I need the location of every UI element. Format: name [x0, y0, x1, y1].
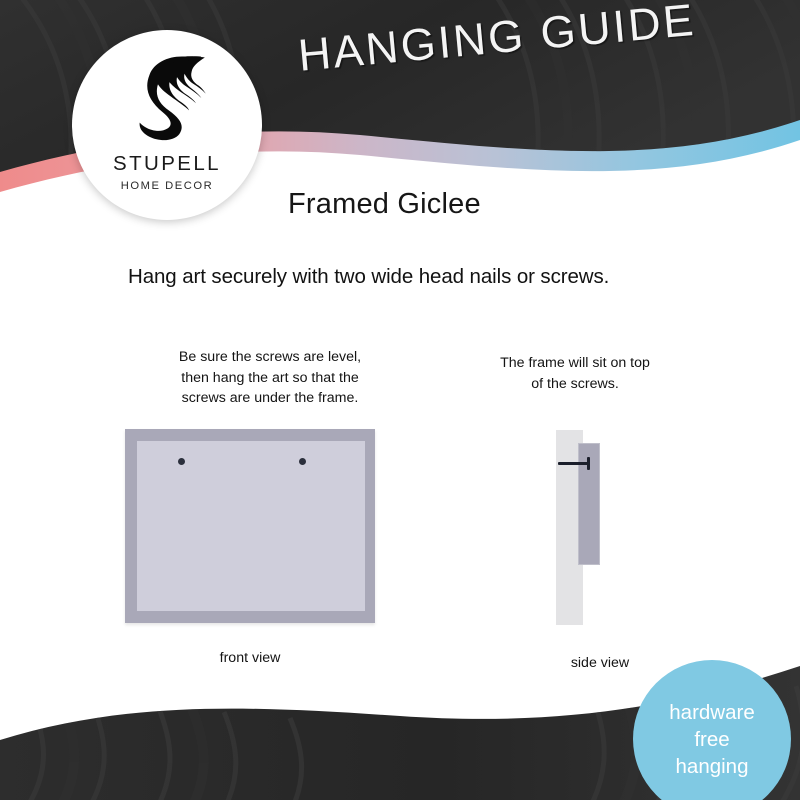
- brand-name: STUPELL: [113, 154, 221, 175]
- main-instruction-text: Hang art securely with two wide head nai…: [128, 265, 609, 289]
- front-view-caption: Be sure the screws are level, then hang …: [120, 347, 420, 409]
- hardware-free-hanging-badge: hardware free hanging: [633, 660, 791, 800]
- side-view-diagram: [556, 430, 646, 625]
- brand-logo-badge: STUPELL HOME DECOR: [72, 30, 262, 220]
- stupell-swoosh-logo-icon: [123, 52, 211, 144]
- brand-tagline: HOME DECOR: [121, 181, 214, 192]
- front-caption-line-2: then hang the art so that the: [120, 368, 420, 389]
- side-caption-line-1: The frame will sit on top: [455, 353, 695, 374]
- page-title: HANGING GUIDE: [296, 0, 698, 82]
- badge-line-2: free: [694, 726, 729, 753]
- front-view-diagram: [125, 429, 375, 623]
- screw-dot-left-icon: [178, 458, 185, 465]
- hanging-guide-page: STUPELL HOME DECOR HANGING GUIDE Framed …: [0, 0, 800, 800]
- picture-frame-border: [125, 429, 375, 623]
- product-type-heading: Framed Giclee: [288, 188, 481, 221]
- nail-head-icon: [587, 457, 590, 470]
- front-view-label: front view: [125, 650, 375, 666]
- side-caption-line-2: of the screws.: [455, 374, 695, 395]
- side-view-caption: The frame will sit on top of the screws.: [455, 353, 695, 394]
- picture-frame-mat: [137, 441, 365, 611]
- side-view-label: side view: [500, 655, 700, 671]
- front-caption-line-1: Be sure the screws are level,: [120, 347, 420, 368]
- badge-line-3: hanging: [676, 753, 749, 780]
- badge-line-1: hardware: [669, 699, 754, 726]
- screw-dot-right-icon: [299, 458, 306, 465]
- nail-shaft-icon: [558, 462, 589, 465]
- front-caption-line-3: screws are under the frame.: [120, 388, 420, 409]
